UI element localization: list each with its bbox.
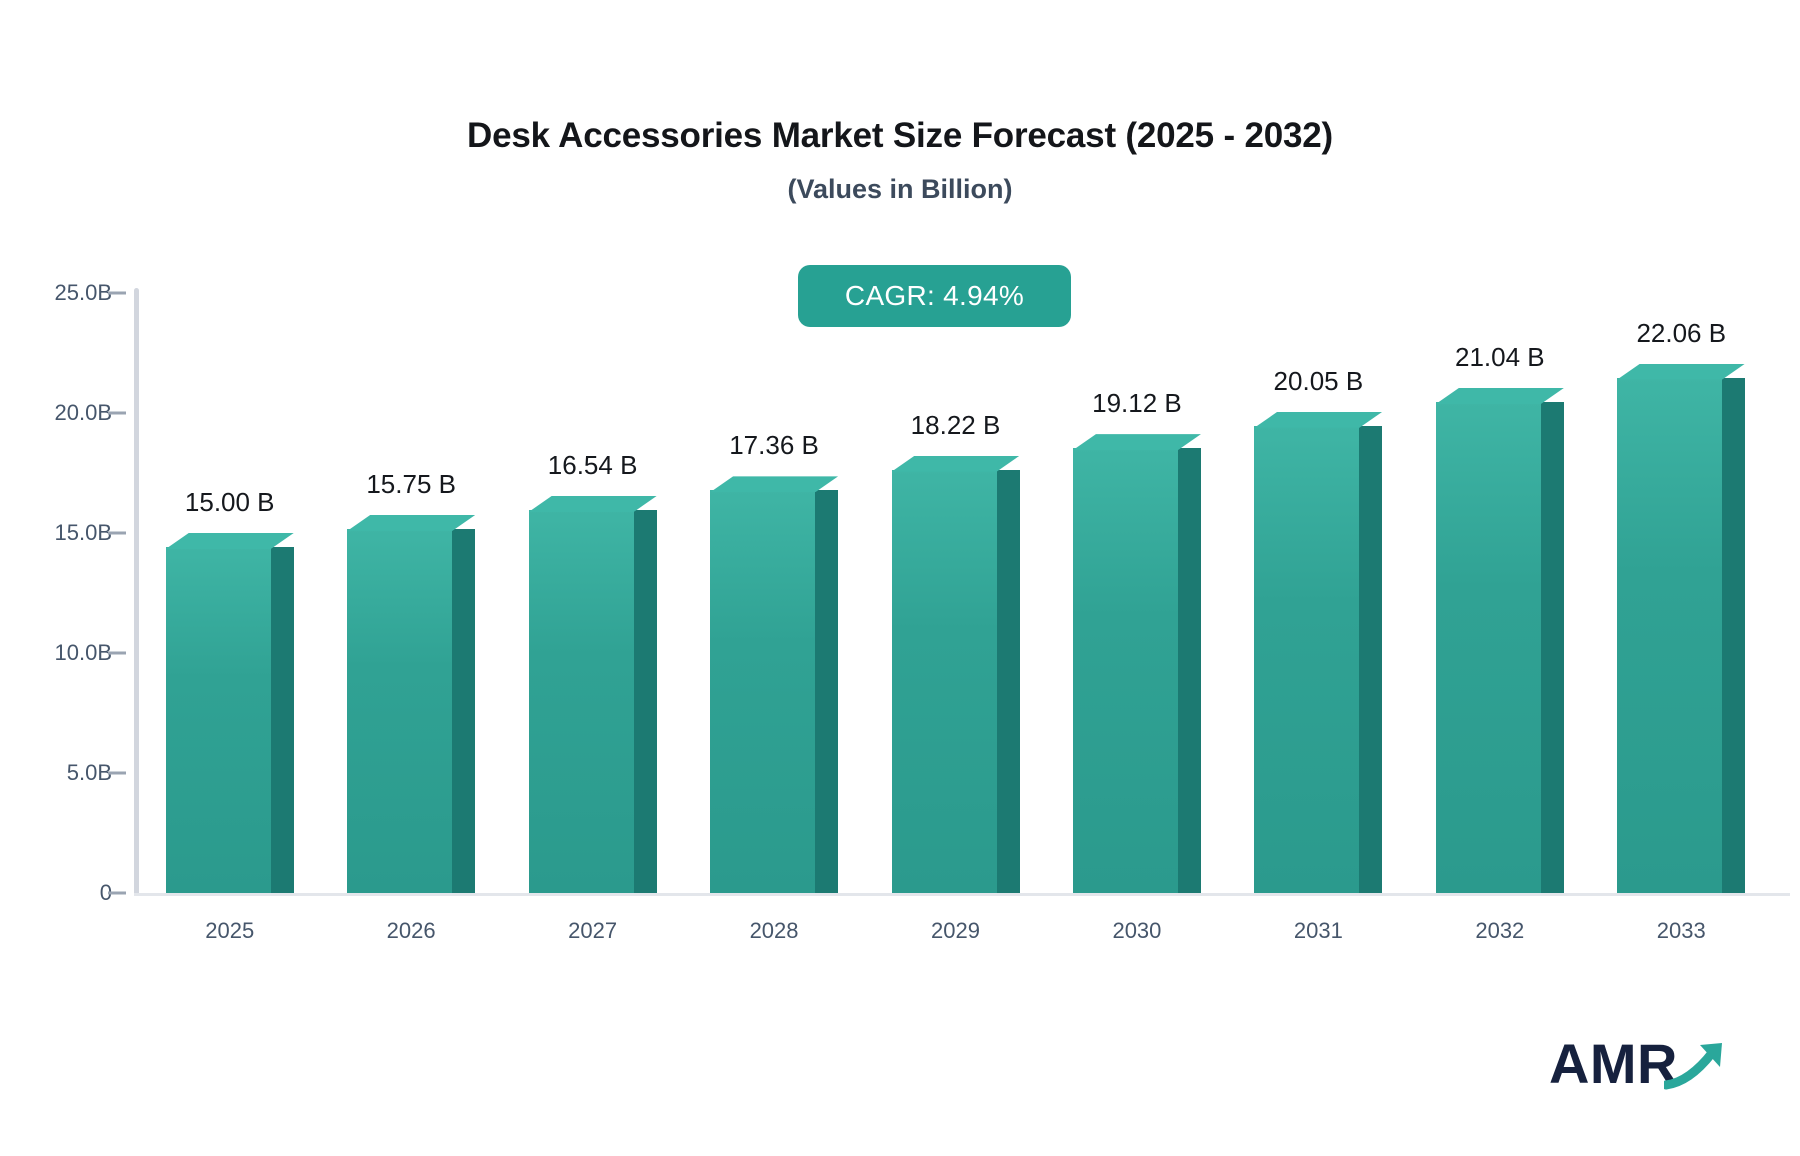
bar-front-face	[892, 470, 997, 893]
bar-front-face	[1254, 426, 1359, 893]
y-axis-tick-mark	[108, 532, 126, 535]
bar-side-face	[1541, 402, 1564, 893]
amr-logo-text: AMR	[1549, 1031, 1678, 1096]
bar[interactable]	[529, 496, 657, 893]
y-axis-tick-mark	[108, 772, 126, 775]
bar[interactable]	[1617, 364, 1745, 893]
bar-front-face	[347, 529, 452, 893]
x-axis-tick-label: 2031	[1228, 918, 1409, 944]
x-axis-tick-label: 2025	[139, 918, 320, 944]
y-axis-tick-mark	[108, 412, 126, 415]
x-axis-tick-label: 2027	[502, 918, 683, 944]
bar-side-face	[271, 547, 294, 893]
y-axis-tick-label: 20.0B	[2, 400, 112, 426]
bar-value-label: 20.05 B	[1274, 366, 1364, 397]
y-axis-line	[134, 288, 139, 896]
bar[interactable]	[1436, 388, 1564, 893]
bar-front-face	[166, 547, 271, 893]
bar-side-face	[1359, 426, 1382, 893]
bar-front-face	[529, 510, 634, 893]
bar-value-label: 15.00 B	[185, 487, 275, 518]
y-axis-tick-mark	[108, 652, 126, 655]
bar-side-face	[997, 470, 1020, 893]
bar-value-label: 15.75 B	[366, 469, 456, 500]
bar-value-label: 22.06 B	[1636, 318, 1726, 349]
bar-side-face	[634, 510, 657, 893]
bar-value-label: 17.36 B	[729, 430, 819, 461]
bar-value-label: 18.22 B	[911, 410, 1001, 441]
bar-value-label: 16.54 B	[548, 450, 638, 481]
bar-side-face	[815, 490, 838, 893]
y-axis-tick-label: 0	[2, 880, 112, 906]
y-axis-tick-mark	[108, 892, 126, 895]
bar[interactable]	[166, 533, 294, 893]
y-axis-tick-label: 15.0B	[2, 520, 112, 546]
bar-chart-plot-area: 25.0B20.0B15.0B10.0B5.0B0 15.00 B15.75 B…	[0, 0, 1800, 1000]
x-axis-tick-label: 2030	[1046, 918, 1227, 944]
x-axis-tick-label: 2028	[683, 918, 864, 944]
bar-value-label: 21.04 B	[1455, 342, 1545, 373]
bar-front-face	[1436, 402, 1541, 893]
y-axis-tick-label: 10.0B	[2, 640, 112, 666]
bar[interactable]	[892, 456, 1020, 893]
x-axis-tick-label: 2029	[865, 918, 1046, 944]
bar-side-face	[1178, 448, 1201, 893]
bar[interactable]	[347, 515, 475, 893]
bar-front-face	[1073, 448, 1178, 893]
x-axis-tick-label: 2026	[320, 918, 501, 944]
x-axis-tick-label: 2032	[1409, 918, 1590, 944]
y-axis-tick-label: 5.0B	[2, 760, 112, 786]
bar-front-face	[710, 490, 815, 893]
bar[interactable]	[1254, 412, 1382, 893]
x-axis-tick-label: 2033	[1591, 918, 1772, 944]
arrow-up-right-icon	[1664, 1039, 1738, 1096]
bar-side-face	[452, 529, 475, 893]
y-axis-tick-mark	[108, 292, 126, 295]
bar-front-face	[1617, 378, 1722, 893]
y-axis-tick-label: 25.0B	[2, 280, 112, 306]
x-axis-line	[134, 893, 1790, 896]
bar-side-face	[1722, 378, 1745, 893]
bar-value-label: 19.12 B	[1092, 388, 1182, 419]
bar[interactable]	[1073, 434, 1201, 893]
bar[interactable]	[710, 476, 838, 893]
amr-logo: AMR	[1549, 1031, 1738, 1096]
